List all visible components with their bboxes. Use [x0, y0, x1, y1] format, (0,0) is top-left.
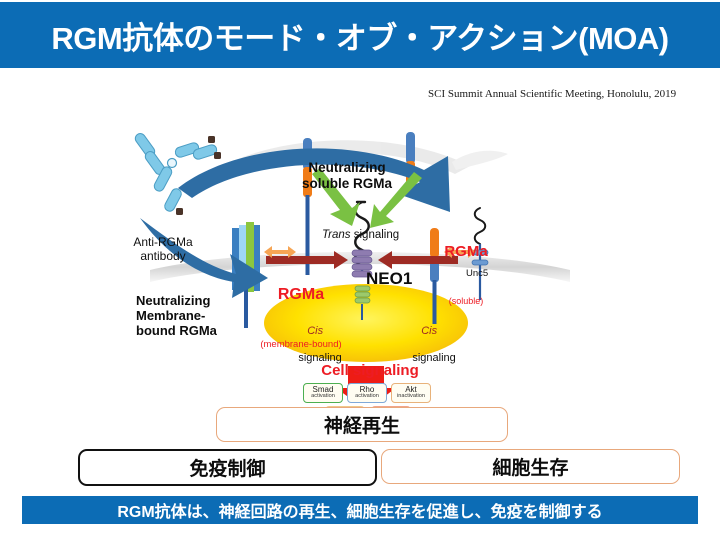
label-neutralizing-membrane-bound: Neutralizing Membrane- bound RGMa	[136, 294, 248, 339]
rgma-soluble-sub: (soluble)	[420, 296, 512, 306]
label-neutralizing-soluble: Neutralizing soluble RGMa	[272, 160, 422, 191]
footer-banner: RGM抗体は、神経回路の再生、細胞生存を促進し、免疫を制御する	[22, 496, 698, 524]
pathway-chip-rho-state: activation	[348, 394, 386, 400]
moa-diagram: Neutralizing soluble RGMa Anti-RGMa anti…	[0, 70, 720, 400]
outcome-box-neural-regeneration: 神経再生	[216, 407, 508, 442]
label-cell-signaling: Cell signaling	[300, 362, 440, 379]
page-title: RGM抗体のモード・オブ・アクション(MOA)	[51, 13, 668, 58]
label-trans-signaling: Trans signaling	[322, 229, 399, 242]
outcome-box-cell-survival: 細胞生存	[381, 449, 680, 484]
pathway-chip-akt-state: inactivation	[392, 394, 430, 400]
outcome-box-immune-regulation: 免疫制御	[78, 449, 377, 486]
slide-root: RGM抗体のモード・オブ・アクション(MOA) SCI Summit Annua…	[0, 0, 720, 540]
pathway-chip-smad-state: activation	[304, 394, 342, 400]
cis-right-italic: Cis	[421, 325, 437, 337]
pathway-chip-rho: Rho activation	[347, 383, 387, 403]
footer-summary-text: RGM抗体は、神経回路の再生、細胞生存を促進し、免疫を制御する	[117, 498, 602, 522]
trans-signaling-italic: Trans	[322, 229, 351, 241]
rgma-soluble-name: RGMa	[420, 243, 512, 260]
label-anti-rgma-antibody: Anti-RGMa antibody	[118, 236, 208, 264]
pathway-chip-smad: Smad activation	[303, 383, 343, 403]
cis-left-italic: Cis	[307, 325, 323, 337]
header-banner: RGM抗体のモード・オブ・アクション(MOA)	[0, 2, 720, 68]
pathway-chip-akt: Akt inactivation	[391, 383, 431, 403]
label-unc5: Unc5	[466, 269, 488, 280]
label-neo1: NEO1	[366, 269, 412, 289]
trans-signaling-rest: signaling	[351, 229, 400, 241]
rgma-membrane-name: RGMa	[248, 286, 354, 304]
